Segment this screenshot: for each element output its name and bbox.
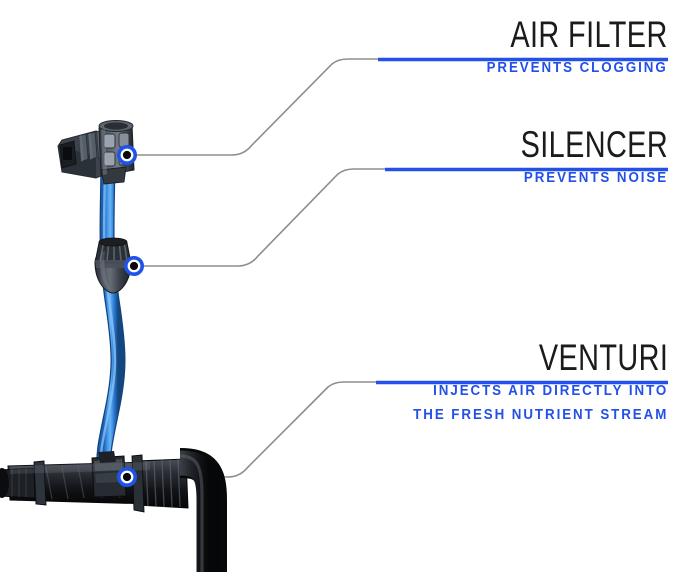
- leader-line-air-filter: [127, 59, 379, 155]
- callout-subtitle-air-filter: PREVENTS CLOGGING: [482, 60, 668, 77]
- callout-air-filter: AIR FILTER PREVENTS CLOGGING: [466, 16, 668, 77]
- callout-title-silencer: SILENCER: [521, 126, 668, 163]
- blue-air-tube: [101, 150, 118, 470]
- diagram-canvas: AIR FILTER PREVENTS CLOGGING SILENCER PR…: [0, 0, 700, 572]
- callout-subtitle-silencer: PREVENTS NOISE: [494, 170, 668, 187]
- marker-silencer[interactable]: [125, 257, 144, 276]
- callout-title-venturi: VENTURI: [452, 339, 668, 376]
- product-illustration: [0, 0, 700, 572]
- marker-venturi[interactable]: [118, 468, 137, 487]
- leader-line-silencer: [134, 169, 386, 266]
- accent-underlines: [376, 60, 668, 383]
- callout-subtitle-venturi-line-1: INJECTS AIR DIRECTLY INTO: [413, 383, 668, 400]
- marker-air-filter[interactable]: [118, 146, 137, 165]
- venturi-manifold: [0, 451, 212, 572]
- callout-subtitle-venturi-line-2: THE FRESH NUTRIENT STREAM: [413, 407, 668, 424]
- callout-title-air-filter: AIR FILTER: [511, 16, 668, 53]
- callout-venturi: VENTURI INJECTS AIR DIRECTLY INTO THE FR…: [391, 339, 668, 424]
- leader-lines: [127, 59, 386, 477]
- callout-silencer: SILENCER PREVENTS NOISE: [479, 126, 668, 187]
